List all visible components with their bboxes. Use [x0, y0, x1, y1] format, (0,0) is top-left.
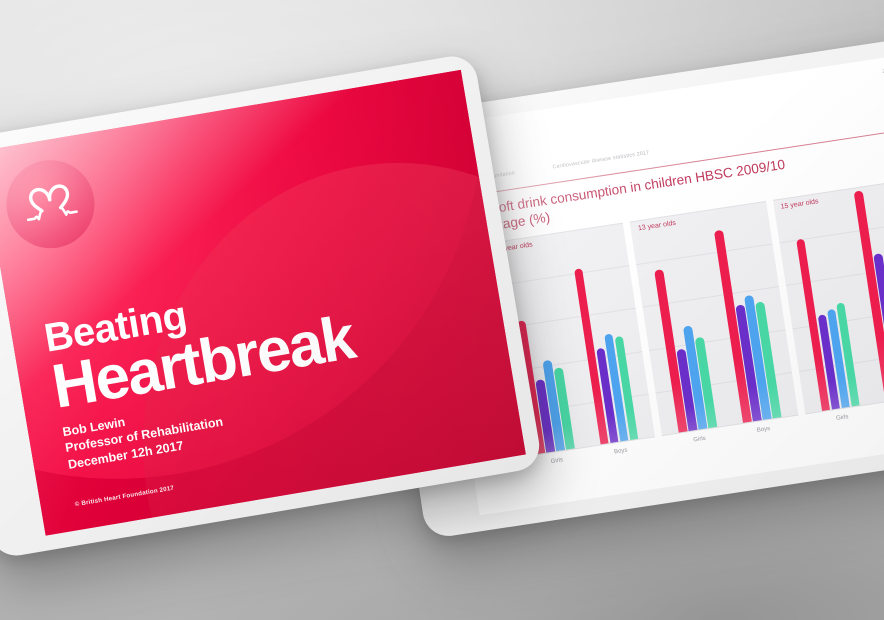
meta-publication: Cardiovascular disease statistics 2017 [552, 150, 650, 171]
bhf-heart-pulse-logo-icon [18, 172, 82, 236]
home-button-icon[interactable] [0, 333, 1, 363]
bar-cluster [853, 182, 884, 401]
scene-root: 23 British Heart Foundation Cardiovascul… [0, 0, 884, 620]
cover-slide: Beating Heartbreak Bob Lewin Professor o… [0, 70, 526, 536]
bar-clusters [630, 201, 798, 435]
bar-cluster [647, 213, 717, 432]
bar-cluster [790, 192, 860, 411]
bar-cluster [711, 204, 781, 423]
tablet-screen-cover: Beating Heartbreak Bob Lewin Professor o… [0, 70, 526, 536]
bar-cluster [568, 225, 638, 444]
chart-panel: 13 year oldsGirlsBoys [630, 201, 801, 457]
panel-plot-area: 13 year olds [630, 201, 798, 435]
